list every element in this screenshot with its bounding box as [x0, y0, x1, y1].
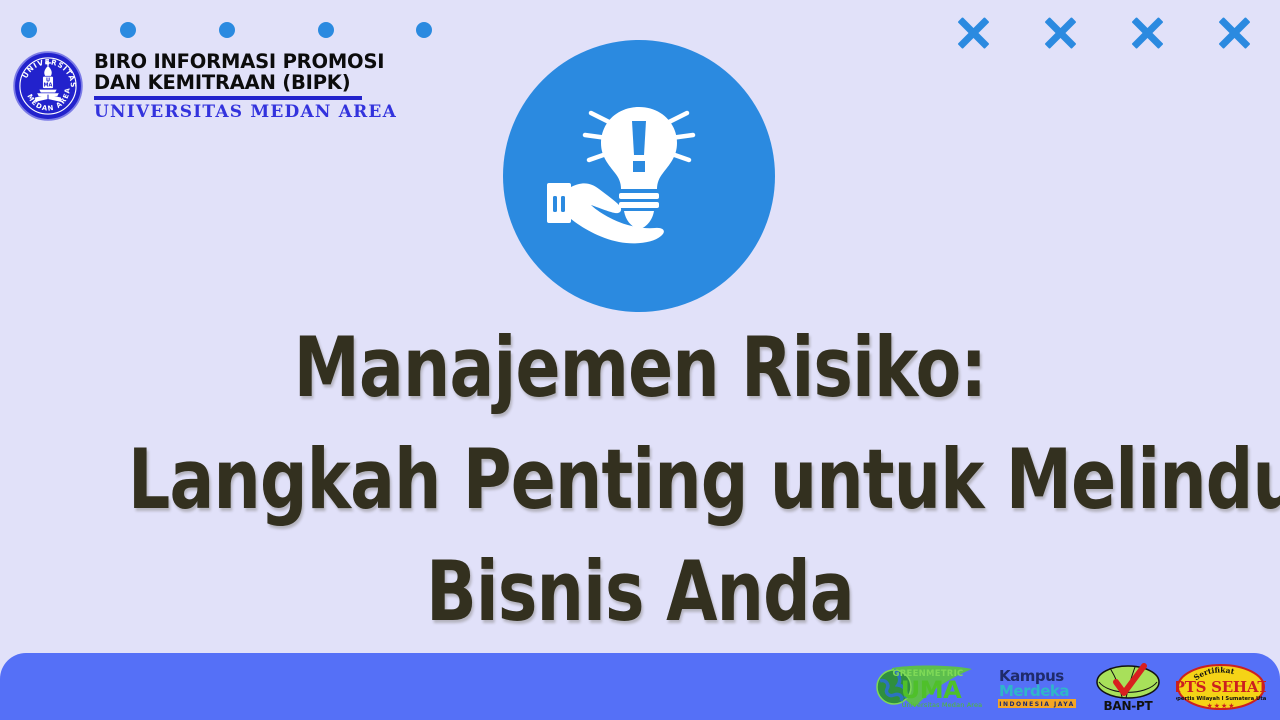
decorative-x-marks-row	[952, 10, 1262, 56]
svg-text:BAN-PT: BAN-PT	[1104, 699, 1154, 712]
svg-text:★★★★: ★★★★	[1206, 702, 1235, 710]
decorative-dot	[318, 22, 334, 38]
bipk-divider-rule	[94, 96, 362, 100]
slide-canvas: U MA UNIVERSITAS MEDAN AREA BIRO INFORMA…	[0, 0, 1280, 720]
svg-text:UMA: UMA	[901, 676, 962, 704]
footer-bar: GREENMETRIC UMA Universitas Medan Area K…	[0, 653, 1280, 720]
decorative-x-icon	[1213, 12, 1255, 54]
hero-icon-circle	[503, 40, 775, 312]
page-title-line-2: Langkah Penting untuk Melindungi	[128, 424, 1152, 536]
pts-sehat-logo: Sertifikat PTS SEHAT Kopertis Wilayah I …	[1176, 663, 1266, 711]
hand-holding-lightbulb-idea-icon	[539, 101, 739, 251]
decorative-dot	[120, 22, 136, 38]
bipk-subtitle: UNIVERSITAS MEDAN AREA	[94, 102, 397, 122]
bipk-text-block: BIRO INFORMASI PROMOSI DAN KEMITRAAN (BI…	[94, 51, 397, 122]
footer-logo-strip: GREENMETRIC UMA Universitas Medan Area K…	[872, 653, 1266, 720]
svg-text:INDONESIA JAYA: INDONESIA JAYA	[999, 701, 1074, 708]
svg-text:Kopertis Wilayah I Sumatera Ut: Kopertis Wilayah I Sumatera Utara	[1176, 696, 1266, 702]
decorative-x-icon	[1126, 12, 1168, 54]
greenmetric-uma-logo: GREENMETRIC UMA Universitas Medan Area	[872, 664, 984, 710]
decorative-dot	[21, 22, 37, 38]
bipk-title-line-1: BIRO INFORMASI PROMOSI	[94, 51, 397, 72]
decorative-x-icon	[952, 12, 994, 54]
svg-text:MA: MA	[44, 83, 53, 89]
page-title: Manajemen Risiko: Langkah Penting untuk …	[128, 312, 1152, 648]
page-title-line-3: Bisnis Anda	[128, 536, 1152, 648]
bipk-title-line-2: DAN KEMITRAAN (BIPK)	[94, 72, 397, 93]
bipk-header-lockup: U MA UNIVERSITAS MEDAN AREA BIRO INFORMA…	[12, 50, 397, 122]
page-title-line-1: Manajemen Risiko:	[128, 312, 1152, 424]
decorative-dot	[416, 22, 432, 38]
decorative-x-icon	[1039, 12, 1081, 54]
svg-text:Universitas Medan Area: Universitas Medan Area	[902, 701, 983, 709]
kampus-merdeka-logo: Kampus Merdeka INDONESIA JAYA	[996, 664, 1080, 710]
decorative-dots-row	[13, 22, 443, 40]
ban-pt-logo: BAN-PT	[1092, 662, 1164, 712]
decorative-dot	[219, 22, 235, 38]
svg-text:PTS SEHAT: PTS SEHAT	[1176, 678, 1266, 696]
svg-text:Merdeka: Merdeka	[999, 682, 1069, 700]
uma-university-seal-icon: U MA UNIVERSITAS MEDAN AREA	[12, 50, 84, 122]
